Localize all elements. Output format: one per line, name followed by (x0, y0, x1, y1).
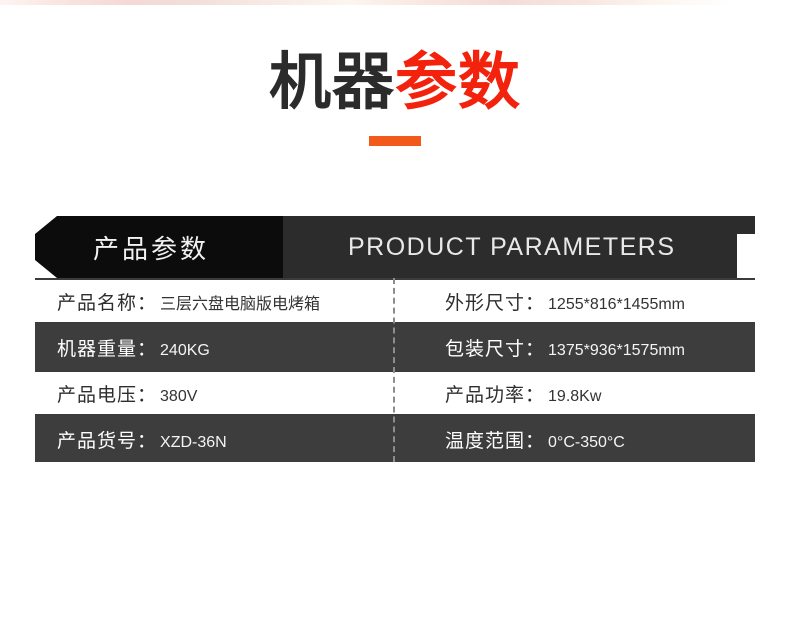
param-value: 380V (160, 388, 197, 406)
table-cell-left: 机器重量： 240KG (35, 334, 393, 361)
param-label: 机器重量： (57, 334, 157, 361)
table-row: 产品货号： XZD-36N 温度范围： 0°C-350°C (35, 416, 755, 462)
table-row: 机器重量： 240KG 包装尺寸： 1375*936*1575mm (35, 324, 755, 370)
param-value: 三层六盘电脑版电烤箱 (160, 290, 320, 314)
page-title-part-dark: 机器 (269, 48, 395, 117)
page-title-part-red: 参数 (395, 48, 521, 117)
param-value: 1255*816*1455mm (548, 296, 685, 314)
param-label: 产品电压： (57, 380, 157, 407)
param-label: 产品功率： (445, 380, 545, 407)
table-cell-right: 包装尺寸： 1375*936*1575mm (393, 334, 755, 361)
table-row: 产品电压： 380V 产品功率： 19.8Kw (35, 370, 755, 416)
param-label: 外形尺寸： (445, 288, 545, 315)
parameters-header-right: PRODUCT PARAMETERS (283, 216, 755, 278)
parameters-table: 产品名称： 三层六盘电脑版电烤箱 外形尺寸： 1255*816*1455mm 机… (35, 278, 755, 462)
top-edge-strip (0, 0, 790, 5)
param-value: XZD-36N (160, 434, 227, 452)
param-label: 产品货号： (57, 426, 157, 453)
param-value: 19.8Kw (548, 388, 601, 406)
param-label: 产品名称： (57, 288, 157, 315)
param-value: 1375*936*1575mm (548, 342, 685, 360)
table-cell-right: 外形尺寸： 1255*816*1455mm (393, 288, 755, 315)
param-value: 0°C-350°C (548, 434, 625, 452)
param-value: 240KG (160, 342, 210, 360)
table-cell-left: 产品电压： 380V (35, 380, 393, 407)
param-label: 温度范围： (445, 426, 545, 453)
parameters-header-cn-label: 产品参数 (93, 229, 209, 266)
table-cell-right: 温度范围： 0°C-350°C (393, 426, 755, 453)
title-underline-bar (369, 136, 421, 146)
param-label: 包装尺寸： (445, 334, 545, 361)
table-cell-right: 产品功率： 19.8Kw (393, 380, 755, 407)
table-row: 产品名称： 三层六盘电脑版电烤箱 外形尺寸： 1255*816*1455mm (35, 278, 755, 324)
table-cell-left: 产品货号： XZD-36N (35, 426, 393, 453)
page-title: 机器参数 (0, 46, 790, 146)
parameters-header-band: 产品参数 PRODUCT PARAMETERS (35, 216, 755, 278)
page-title-text: 机器参数 (0, 46, 790, 120)
product-parameters-panel: 产品参数 PRODUCT PARAMETERS 产品名称： 三层六盘电脑版电烤箱… (35, 216, 755, 462)
parameters-header-en-label: PRODUCT PARAMETERS (348, 233, 676, 262)
parameters-header-left: 产品参数 (35, 216, 283, 278)
table-cell-left: 产品名称： 三层六盘电脑版电烤箱 (35, 288, 393, 315)
